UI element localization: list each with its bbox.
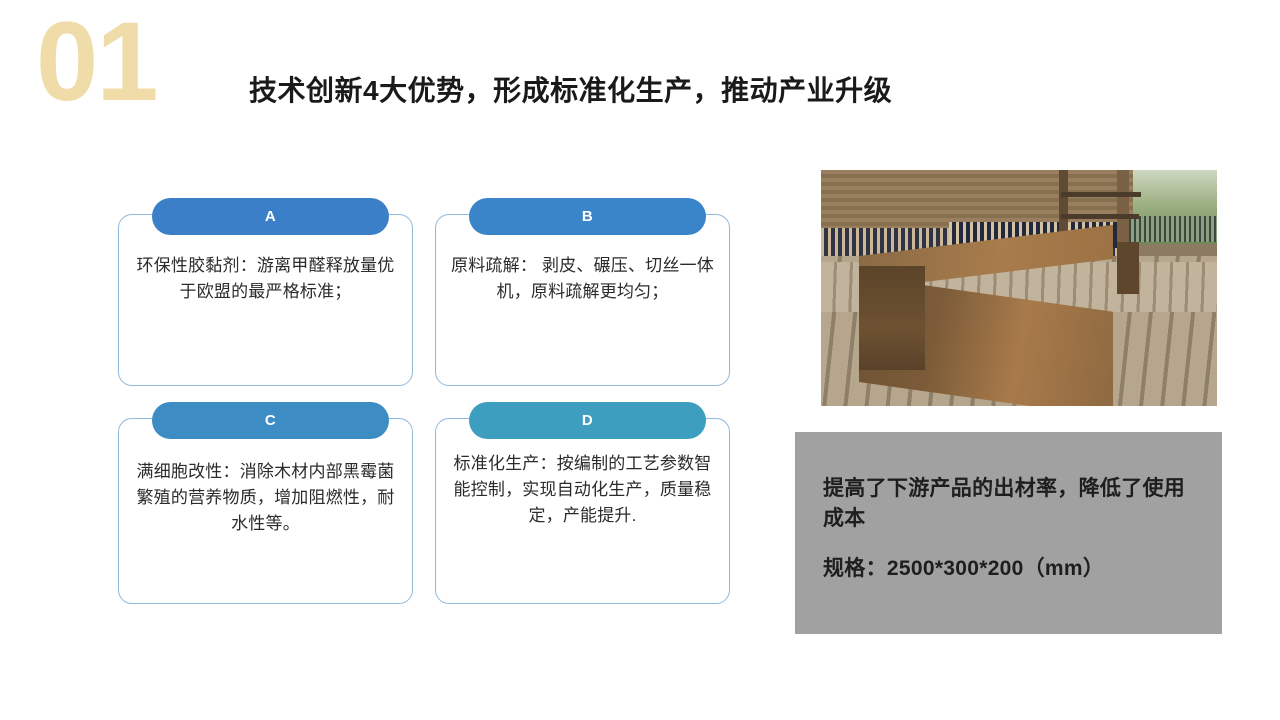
section-number: 01 xyxy=(36,6,157,118)
advantage-card-b[interactable]: B 原料疏解： 剥皮、碾压、切丝一体机，原料疏解更均匀； xyxy=(435,214,730,386)
card-a-badge-label: A xyxy=(265,208,276,225)
photo-railing-lower xyxy=(1061,214,1139,219)
product-photo xyxy=(821,170,1217,406)
card-c-badge-label: C xyxy=(265,412,276,429)
card-d-text: 标准化生产：按编制的工艺参数智能控制，实现自动化生产，质量稳定，产能提升. xyxy=(450,451,715,528)
photo-fence xyxy=(1119,216,1217,242)
advantage-card-grid: A 环保性胶黏剂：游离甲醛释放量优于欧盟的最严格标准； B 原料疏解： 剥皮、碾… xyxy=(118,214,730,604)
photo-beam-end xyxy=(859,266,925,370)
card-d-badge: D xyxy=(469,402,706,439)
card-b-badge-label: B xyxy=(582,208,593,225)
photo-beam-bar xyxy=(1117,242,1139,294)
advantage-card-c[interactable]: C 满细胞改性：消除木材内部黑霉菌繁殖的营养物质，增加阻燃性，耐水性等。 xyxy=(118,418,413,604)
slide-canvas: 01 技术创新4大优势，形成标准化生产，推动产业升级 A 环保性胶黏剂：游离甲醛… xyxy=(0,0,1280,720)
card-c-badge: C xyxy=(152,402,389,439)
page-title: 技术创新4大优势，形成标准化生产，推动产业升级 xyxy=(249,69,892,109)
card-c-text: 满细胞改性：消除木材内部黑霉菌繁殖的营养物质，增加阻燃性，耐水性等。 xyxy=(133,459,398,536)
card-b-badge: B xyxy=(469,198,706,235)
card-b-text: 原料疏解： 剥皮、碾压、切丝一体机，原料疏解更均匀； xyxy=(450,253,715,305)
card-d-badge-label: D xyxy=(582,412,593,429)
card-a-badge: A xyxy=(152,198,389,235)
card-a-text: 环保性胶黏剂：游离甲醛释放量优于欧盟的最严格标准； xyxy=(133,253,398,305)
photo-post-right xyxy=(1117,170,1129,252)
benefit-text: 提高了下游产品的出材率，降低了使用成本 xyxy=(823,474,1194,534)
advantage-card-a[interactable]: A 环保性胶黏剂：游离甲醛释放量优于欧盟的最严格标准； xyxy=(118,214,413,386)
benefit-info-box: 提高了下游产品的出材率，降低了使用成本 规格：2500*300*200（mm） xyxy=(795,432,1222,634)
advantage-card-d[interactable]: D 标准化生产：按编制的工艺参数智能控制，实现自动化生产，质量稳定，产能提升. xyxy=(435,418,730,604)
spec-text: 规格：2500*300*200（mm） xyxy=(823,552,1194,582)
photo-railing-upper xyxy=(1061,192,1141,197)
